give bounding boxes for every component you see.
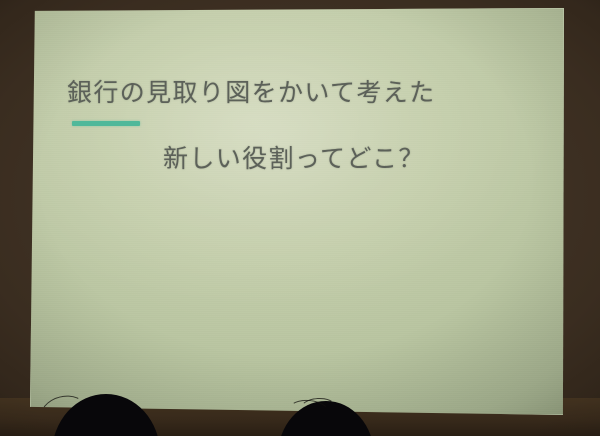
- conference-photo: 銀行の見取り図をかいて考えた 新しい役割ってどこ？: [0, 0, 600, 436]
- projection-screen-area: 銀行の見取り図をかいて考えた 新しい役割ってどこ？: [0, 0, 600, 436]
- slide-heading-line-2: 新しい役割ってどこ？: [163, 144, 425, 174]
- slide-heading-line-1: 銀行の見取り図をかいて考えた: [67, 78, 436, 108]
- slide-accent-underline: [72, 121, 140, 126]
- slide-content: 銀行の見取り図をかいて考えた 新しい役割ってどこ？: [30, 8, 564, 415]
